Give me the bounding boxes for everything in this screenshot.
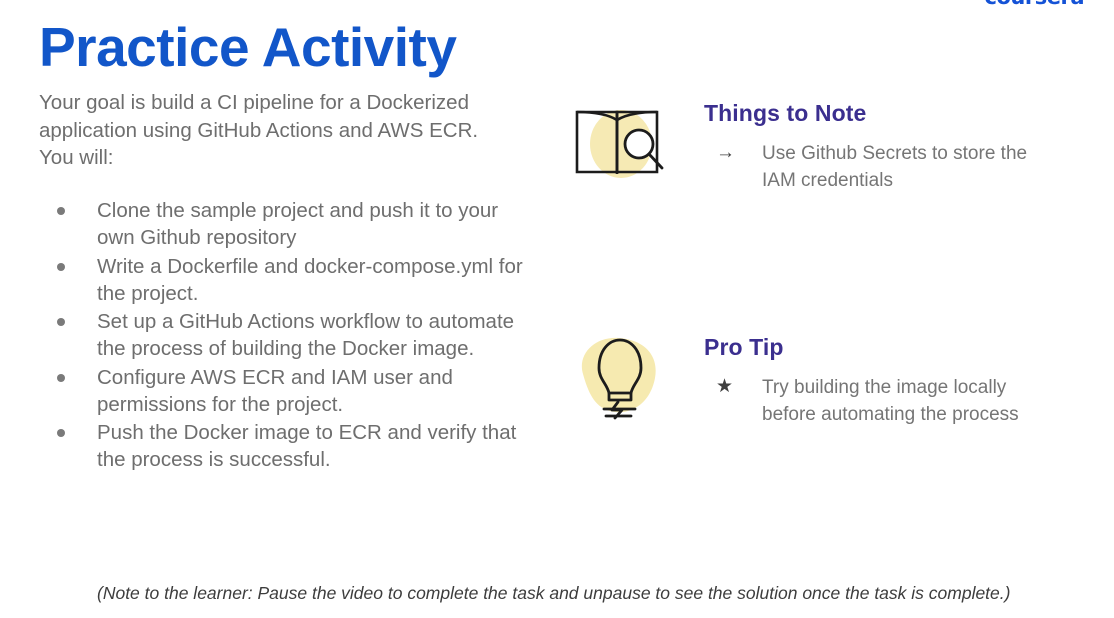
things-to-note-panel: Things to Note → Use Github Secrets to s… [565,96,1062,195]
list-item: Set up a GitHub Actions workflow to auto… [39,308,534,363]
bullet-dot-icon [57,429,65,437]
bullet-dot-icon [57,318,65,326]
lightbulb-icon [565,330,673,426]
coursera-logo: coursera [985,0,1084,8]
bullet-dot-icon [57,263,65,271]
pro-tip-body: Pro Tip ★ Try building the image locally… [704,330,1062,429]
page-title: Practice Activity [39,18,549,77]
list-item-label: Push the Docker image to ECR and verify … [97,421,516,471]
bullet-dot-icon [57,374,65,382]
pro-tip-list: ★ Try building the image locally before … [704,375,1062,429]
slide-root: coursera Practice Activity Your goal is … [0,0,1114,618]
arrow-right-icon: → [716,140,735,167]
list-item-label: Use Github Secrets to store the IAM cred… [762,143,1027,191]
star-icon: ★ [716,374,733,401]
things-to-note-list: → Use Github Secrets to store the IAM cr… [704,141,1062,195]
bullet-dot-icon [57,207,65,215]
list-item: Configure AWS ECR and IAM user and permi… [39,364,534,419]
list-item-label: Clone the sample project and push it to … [97,199,498,249]
pro-tip-heading: Pro Tip [704,334,1062,361]
list-item: Write a Dockerfile and docker-compose.ym… [39,253,534,308]
list-item: ★ Try building the image locally before … [704,375,1062,429]
list-item-label: Configure AWS ECR and IAM user and permi… [97,366,453,416]
task-list: Clone the sample project and push it to … [39,197,534,474]
learner-note: (Note to the learner: Pause the video to… [97,583,1010,604]
list-item-label: Write a Dockerfile and docker-compose.ym… [97,255,523,305]
list-item: Push the Docker image to ECR and verify … [39,419,534,474]
list-item: → Use Github Secrets to store the IAM cr… [704,141,1062,195]
left-column: Practice Activity Your goal is build a C… [39,18,549,475]
book-magnifier-icon [565,96,673,192]
things-to-note-heading: Things to Note [704,100,1062,127]
intro-paragraph: Your goal is build a CI pipeline for a D… [39,89,499,171]
things-to-note-body: Things to Note → Use Github Secrets to s… [704,96,1062,195]
list-item: Clone the sample project and push it to … [39,197,534,252]
pro-tip-panel: Pro Tip ★ Try building the image locally… [565,330,1062,429]
list-item-label: Try building the image locally before au… [762,377,1019,425]
list-item-label: Set up a GitHub Actions workflow to auto… [97,310,514,360]
